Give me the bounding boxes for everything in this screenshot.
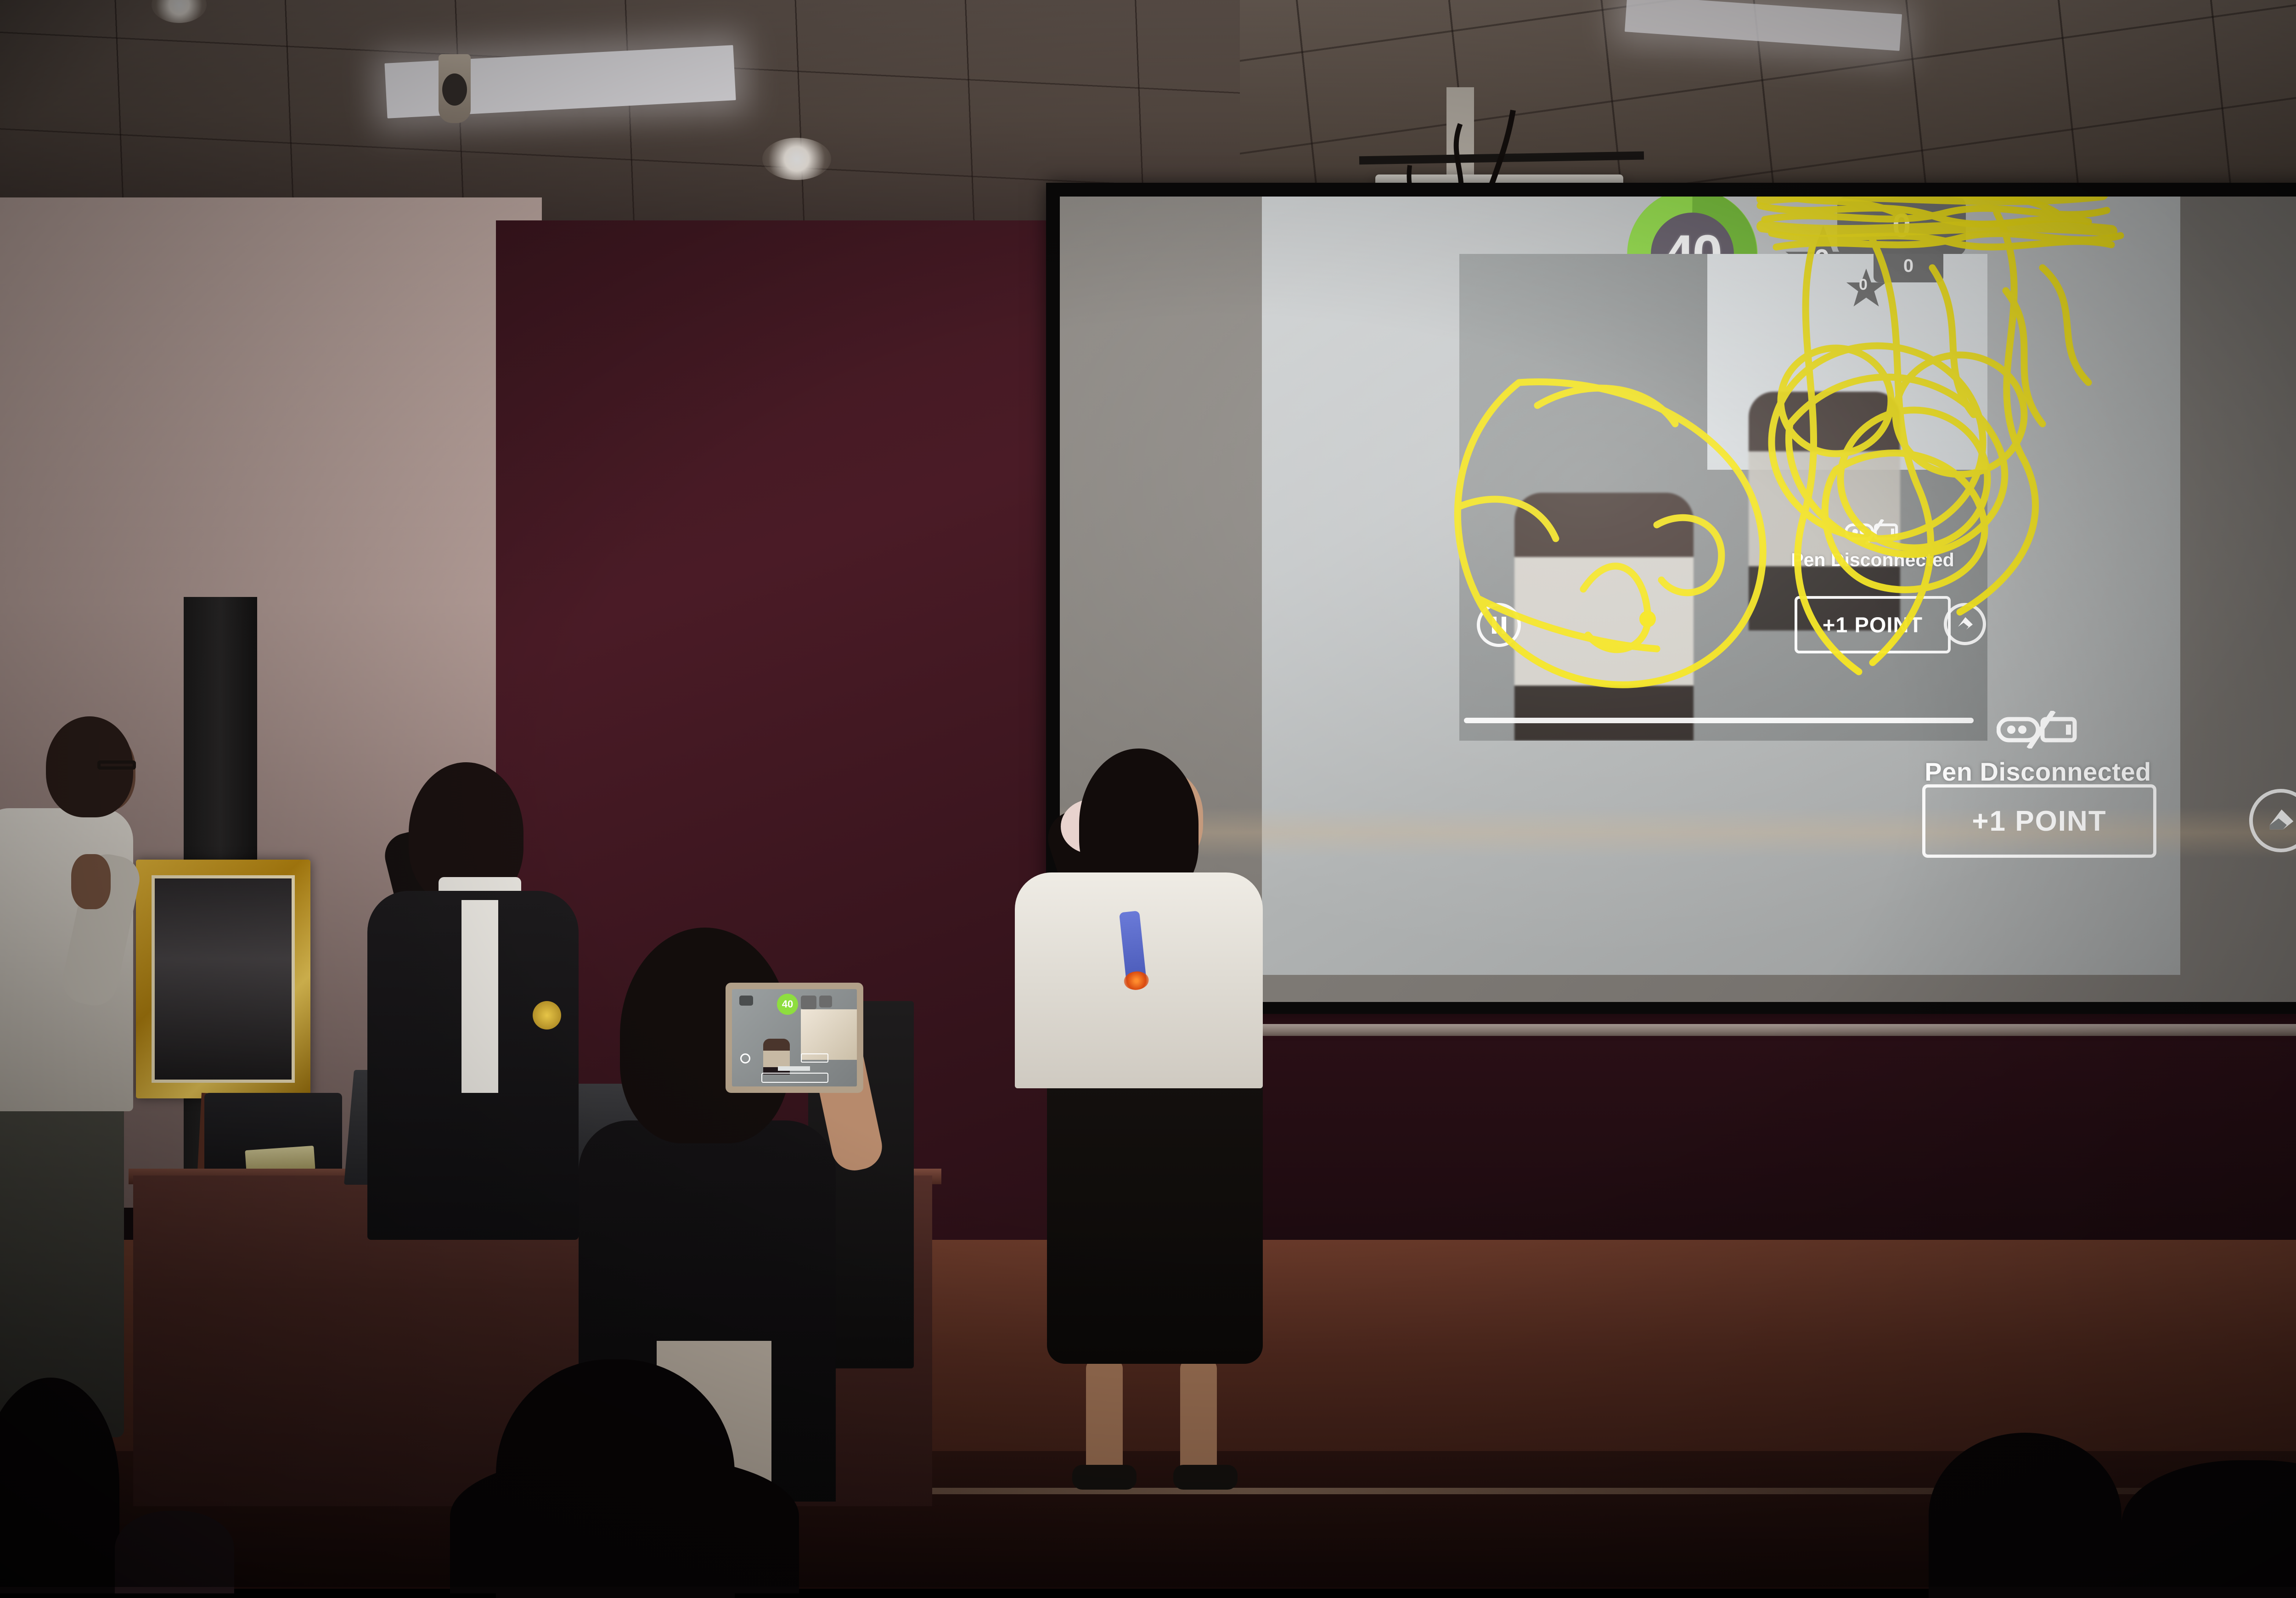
nested-screen-capture: 0 0 <box>1459 254 1987 741</box>
eraser-icon <box>1954 613 1975 635</box>
tablet-nested-point-button <box>801 1053 828 1063</box>
pen-disconnected-icon <box>1845 519 1900 544</box>
tablet-timer: 40 <box>777 994 798 1015</box>
tablet-device[interactable]: 40 <box>726 983 863 1093</box>
nested-pen-status: Pen Disconnected <box>1776 519 1969 571</box>
audience-silhouette <box>450 1456 799 1593</box>
score-value: 0 <box>1892 207 1911 245</box>
shoe <box>1173 1465 1238 1490</box>
gold-badge <box>533 1001 561 1030</box>
nested-star-value: 0 <box>1859 276 1868 294</box>
ceiling-fan-mount <box>439 54 471 123</box>
erase-button[interactable] <box>2249 789 2296 852</box>
pause-icon <box>1492 617 1506 634</box>
ceiling-spotlight <box>762 138 831 180</box>
nested-score-value: 0 <box>1903 256 1913 276</box>
tablet-screen[interactable]: 40 <box>732 989 857 1086</box>
tablet-star-badge <box>801 996 816 1009</box>
pen-disconnected-icon <box>1997 711 2079 748</box>
picture-frame-canvas <box>152 875 295 1083</box>
pen-status-label: Pen Disconnected <box>1891 757 2185 787</box>
tablet-point-button <box>761 1073 828 1083</box>
shoe <box>1072 1465 1137 1490</box>
leg <box>1180 1359 1217 1479</box>
projector-mount-pole <box>1446 87 1474 179</box>
nested-person-figure <box>1749 392 1900 630</box>
hand <box>71 854 111 909</box>
audience-silhouette <box>1929 1433 2122 1598</box>
tablet-pen-status-icon <box>778 1066 810 1071</box>
nested-pen-status-label: Pen Disconnected <box>1776 549 1969 571</box>
leg <box>1086 1359 1123 1479</box>
tablet-timer-value: 40 <box>782 998 793 1010</box>
glasses <box>97 760 136 770</box>
audience-silhouette <box>115 1511 234 1593</box>
nested-score-cluster: 0 0 <box>1845 254 1983 318</box>
nested-person-figure <box>1514 493 1694 741</box>
add-point-label: +1 POINT <box>1972 805 2106 838</box>
person-student-demonstrator <box>996 748 1290 1506</box>
person-organizer <box>340 762 588 1290</box>
tablet-score-pill <box>819 996 832 1007</box>
tablet-badge <box>739 996 753 1006</box>
nested-pause-button[interactable] <box>1477 603 1521 647</box>
lecture-hall-room: 40 0 0 <box>0 0 2296 1587</box>
nested-add-point-label: +1 POINT <box>1823 612 1923 637</box>
nested-erase-button[interactable] <box>1944 603 1986 645</box>
pen-status: Pen Disconnected <box>1891 711 2185 787</box>
tablet-nested-bright <box>801 1009 857 1060</box>
nested-add-point-button[interactable]: +1 POINT <box>1795 596 1951 653</box>
eraser-icon <box>2264 804 2296 838</box>
shirt-placket <box>461 900 498 1093</box>
projected-app-canvas: 40 0 0 <box>1262 197 2180 975</box>
skirt <box>1047 1070 1263 1364</box>
add-point-button[interactable]: +1 POINT <box>1922 784 2156 858</box>
tablet-nested-pause <box>740 1053 750 1063</box>
